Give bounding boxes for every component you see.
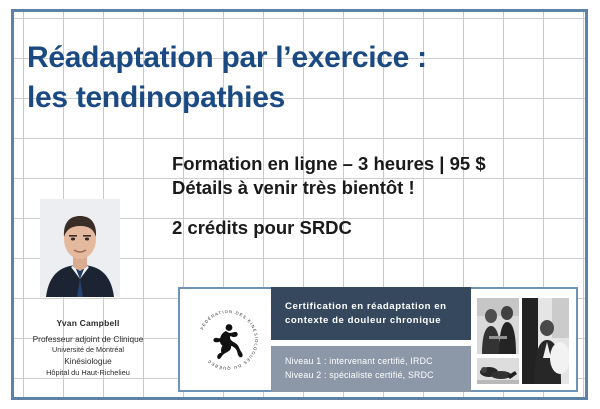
logo-cell: FÉDÉRATION DES KINÉSIOLOGUES DU QUÉBEC (185, 295, 271, 384)
course-credits-line: 2 crédits pour SRDC (172, 216, 572, 240)
photo-consultation-icon (522, 298, 569, 384)
presenter-photo (40, 199, 120, 297)
course-availability-line: Détails à venir très bientôt ! (172, 176, 572, 200)
presenter-affiliation-1: Université de Montréal (6, 345, 170, 355)
photo-floor-exercise-icon (477, 358, 519, 384)
certification-banner: FÉDÉRATION DES KINÉSIOLOGUES DU QUÉBEC C… (178, 287, 578, 392)
presenter-caption: Yvan Campbell Professeur adjoint de Clin… (6, 318, 170, 378)
course-format-line: Formation en ligne – 3 heures | 95 $ (172, 152, 572, 176)
slide-canvas: Réadaptation par l’exercice : les tendin… (0, 0, 600, 409)
certification-level-2: Niveau 2 : spécialiste certifié, SRDC (285, 369, 459, 383)
photo-consultation (522, 298, 569, 384)
presenter-role-1: Professeur adjoint de Clinique (6, 334, 170, 345)
presenter-affiliation-2: Hôpital du Haut-Richelieu (6, 368, 170, 378)
presenter-role-2: Kinésiologue (6, 355, 170, 367)
course-details-block: Formation en ligne – 3 heures | 95 $ Dét… (172, 152, 572, 240)
banner-photo-collage (477, 295, 569, 384)
portrait-photo-icon (40, 199, 120, 297)
presenter-name: Yvan Campbell (6, 318, 170, 328)
photo-floor-exercise (477, 358, 519, 384)
certification-heading: Certification en réadaptation en context… (271, 287, 471, 340)
certification-level-1: Niveau 1 : intervenant certifié, IRDC (285, 355, 459, 369)
certification-banner-inner: FÉDÉRATION DES KINÉSIOLOGUES DU QUÉBEC C… (180, 289, 576, 390)
page-title: Réadaptation par l’exercice : les tendin… (27, 38, 547, 118)
photo-therapy-session-icon (477, 298, 519, 354)
paragraph-spacer (172, 201, 572, 216)
certification-levels: Niveau 1 : intervenant certifié, IRDC Ni… (271, 346, 471, 391)
certification-text-cell: Certification en réadaptation en context… (271, 295, 477, 384)
kinesiology-running-figure-logo: FÉDÉRATION DES KINÉSIOLOGUES DU QUÉBEC (192, 304, 264, 376)
photo-therapy-session (477, 298, 519, 354)
running-figure-icon: FÉDÉRATION DES KINÉSIOLOGUES DU QUÉBEC (192, 304, 264, 376)
